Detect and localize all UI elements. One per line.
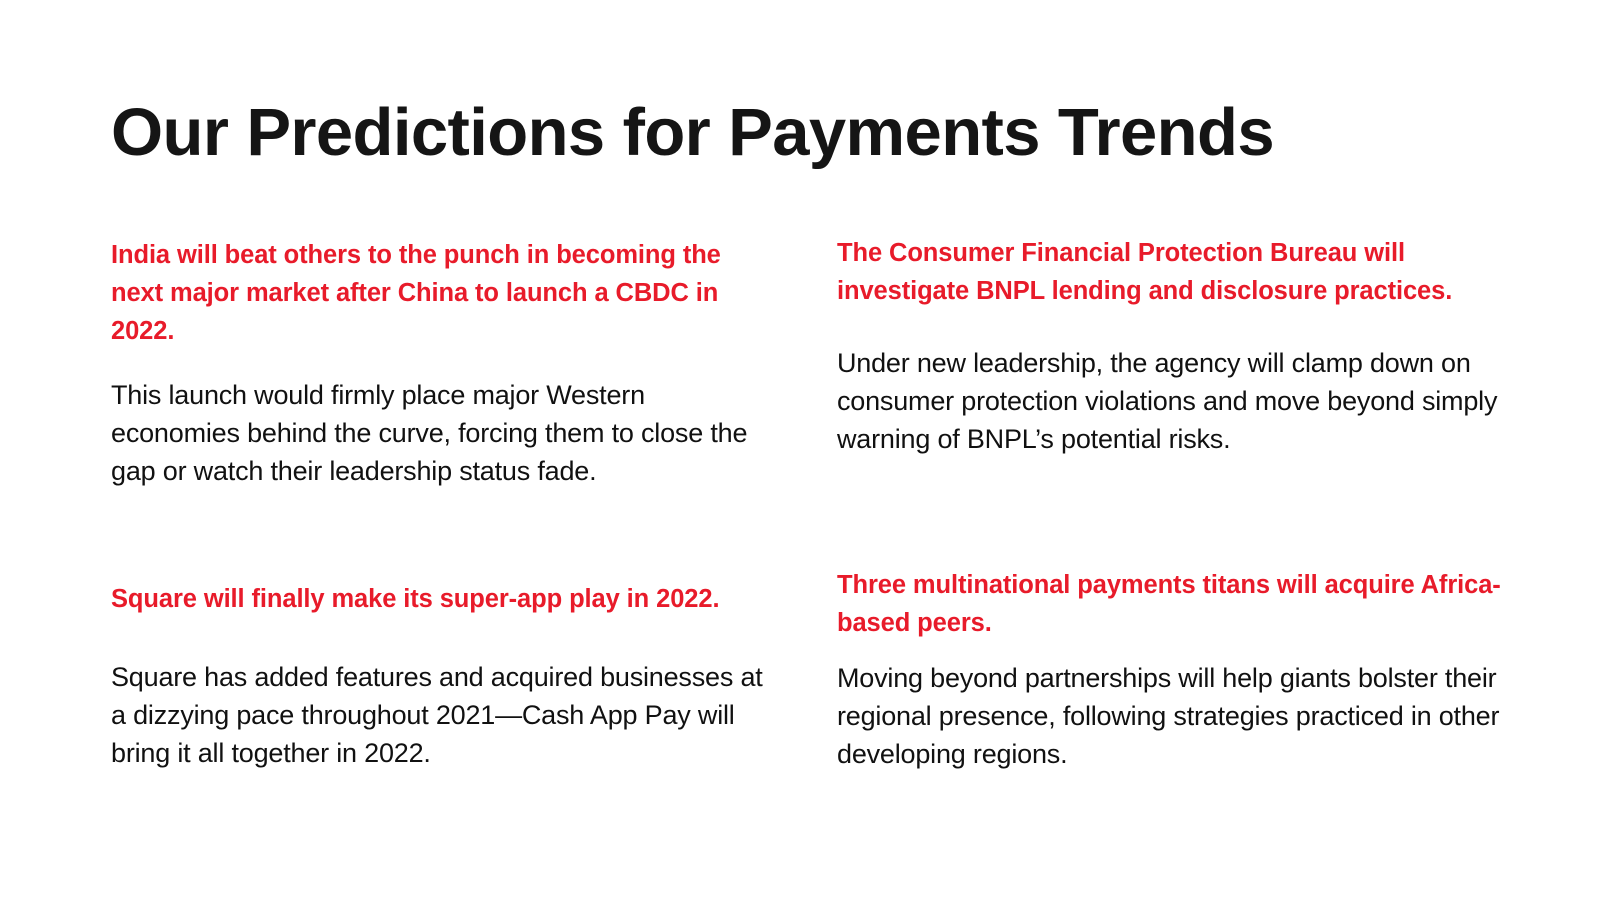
page-title: Our Predictions for Payments Trends xyxy=(111,96,1491,170)
predictions-grid: India will beat others to the punch in b… xyxy=(111,224,1501,824)
prediction-heading: Three multinational payments titans will… xyxy=(837,566,1501,642)
presentation-slide: Our Predictions for Payments Trends Indi… xyxy=(0,0,1600,900)
prediction-body: Under new leadership, the agency will cl… xyxy=(837,344,1501,458)
prediction-block-cfpb-bnpl: The Consumer Financial Protection Bureau… xyxy=(837,224,1501,490)
prediction-block-india-cbdc: India will beat others to the punch in b… xyxy=(111,224,775,490)
prediction-body: Square has added features and acquired b… xyxy=(111,658,775,772)
prediction-heading: The Consumer Financial Protection Bureau… xyxy=(837,234,1501,310)
prediction-heading: India will beat others to the punch in b… xyxy=(111,236,775,350)
prediction-block-square-super-app: Square will finally make its super-app p… xyxy=(111,490,775,773)
prediction-body: Moving beyond partnerships will help gia… xyxy=(837,659,1501,773)
prediction-block-africa-acquisitions: Three multinational payments titans will… xyxy=(837,490,1501,773)
prediction-body: This launch would firmly place major Wes… xyxy=(111,376,775,490)
prediction-heading: Square will finally make its super-app p… xyxy=(111,580,775,618)
